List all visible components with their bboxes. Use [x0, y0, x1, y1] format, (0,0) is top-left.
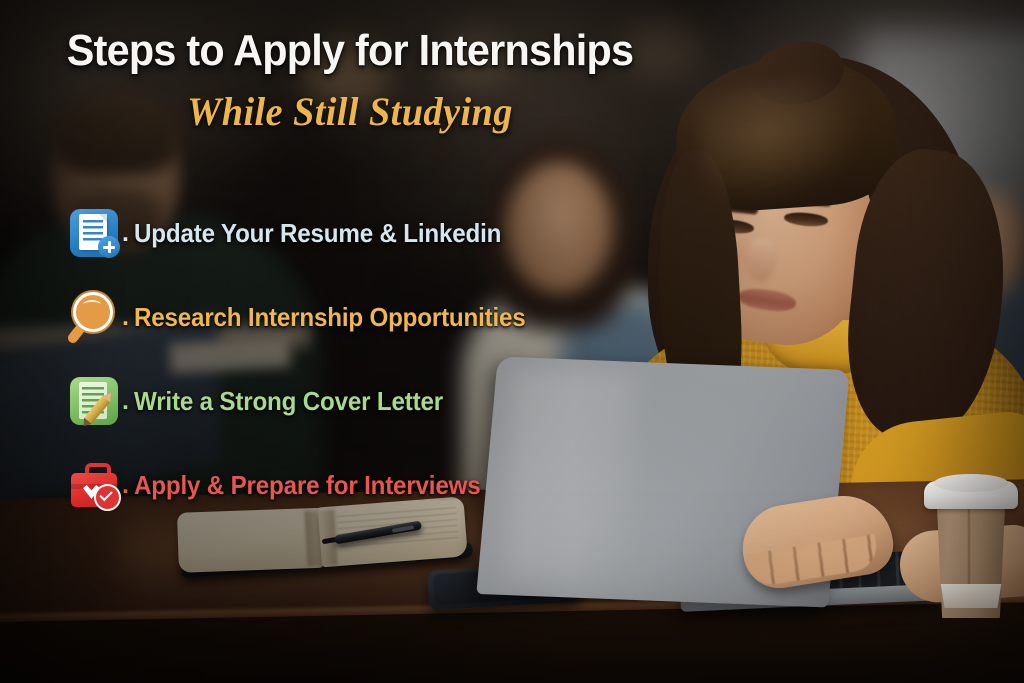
step-label: Research Internship Opportunities	[134, 302, 526, 333]
page-title: Steps to Apply for Internships	[21, 26, 679, 76]
step-number: .	[122, 471, 129, 500]
step-label: Update Your Resume & Linkedin	[134, 218, 501, 249]
steps-list: . Update Your Resume & Linkedin . Resear…	[68, 202, 628, 538]
page-subtitle: While Still Studying	[14, 88, 686, 135]
document-pencil-icon	[68, 375, 120, 427]
step-number: .	[122, 219, 129, 248]
magnifying-glass-icon	[68, 291, 120, 343]
list-item: . Apply & Prepare for Interviews	[68, 454, 628, 516]
step-label: Apply & Prepare for Interviews	[134, 470, 480, 501]
list-item: . Update Your Resume & Linkedin	[68, 202, 628, 264]
magnifier-gloss	[83, 300, 101, 309]
poster: Steps to Apply for Internships While Sti…	[0, 0, 1024, 683]
step-number: .	[122, 387, 129, 416]
check-badge-icon	[94, 484, 121, 511]
plus-badge-icon	[98, 236, 120, 258]
step-label: Write a Strong Cover Letter	[134, 386, 443, 417]
text-overlay: Steps to Apply for Internships While Sti…	[0, 0, 1024, 683]
briefcase-check-icon	[68, 459, 120, 511]
step-number: .	[122, 303, 129, 332]
list-item: . Research Internship Opportunities	[68, 286, 628, 348]
document-plus-icon	[68, 207, 120, 259]
list-item: . Write a Strong Cover Letter	[68, 370, 628, 432]
